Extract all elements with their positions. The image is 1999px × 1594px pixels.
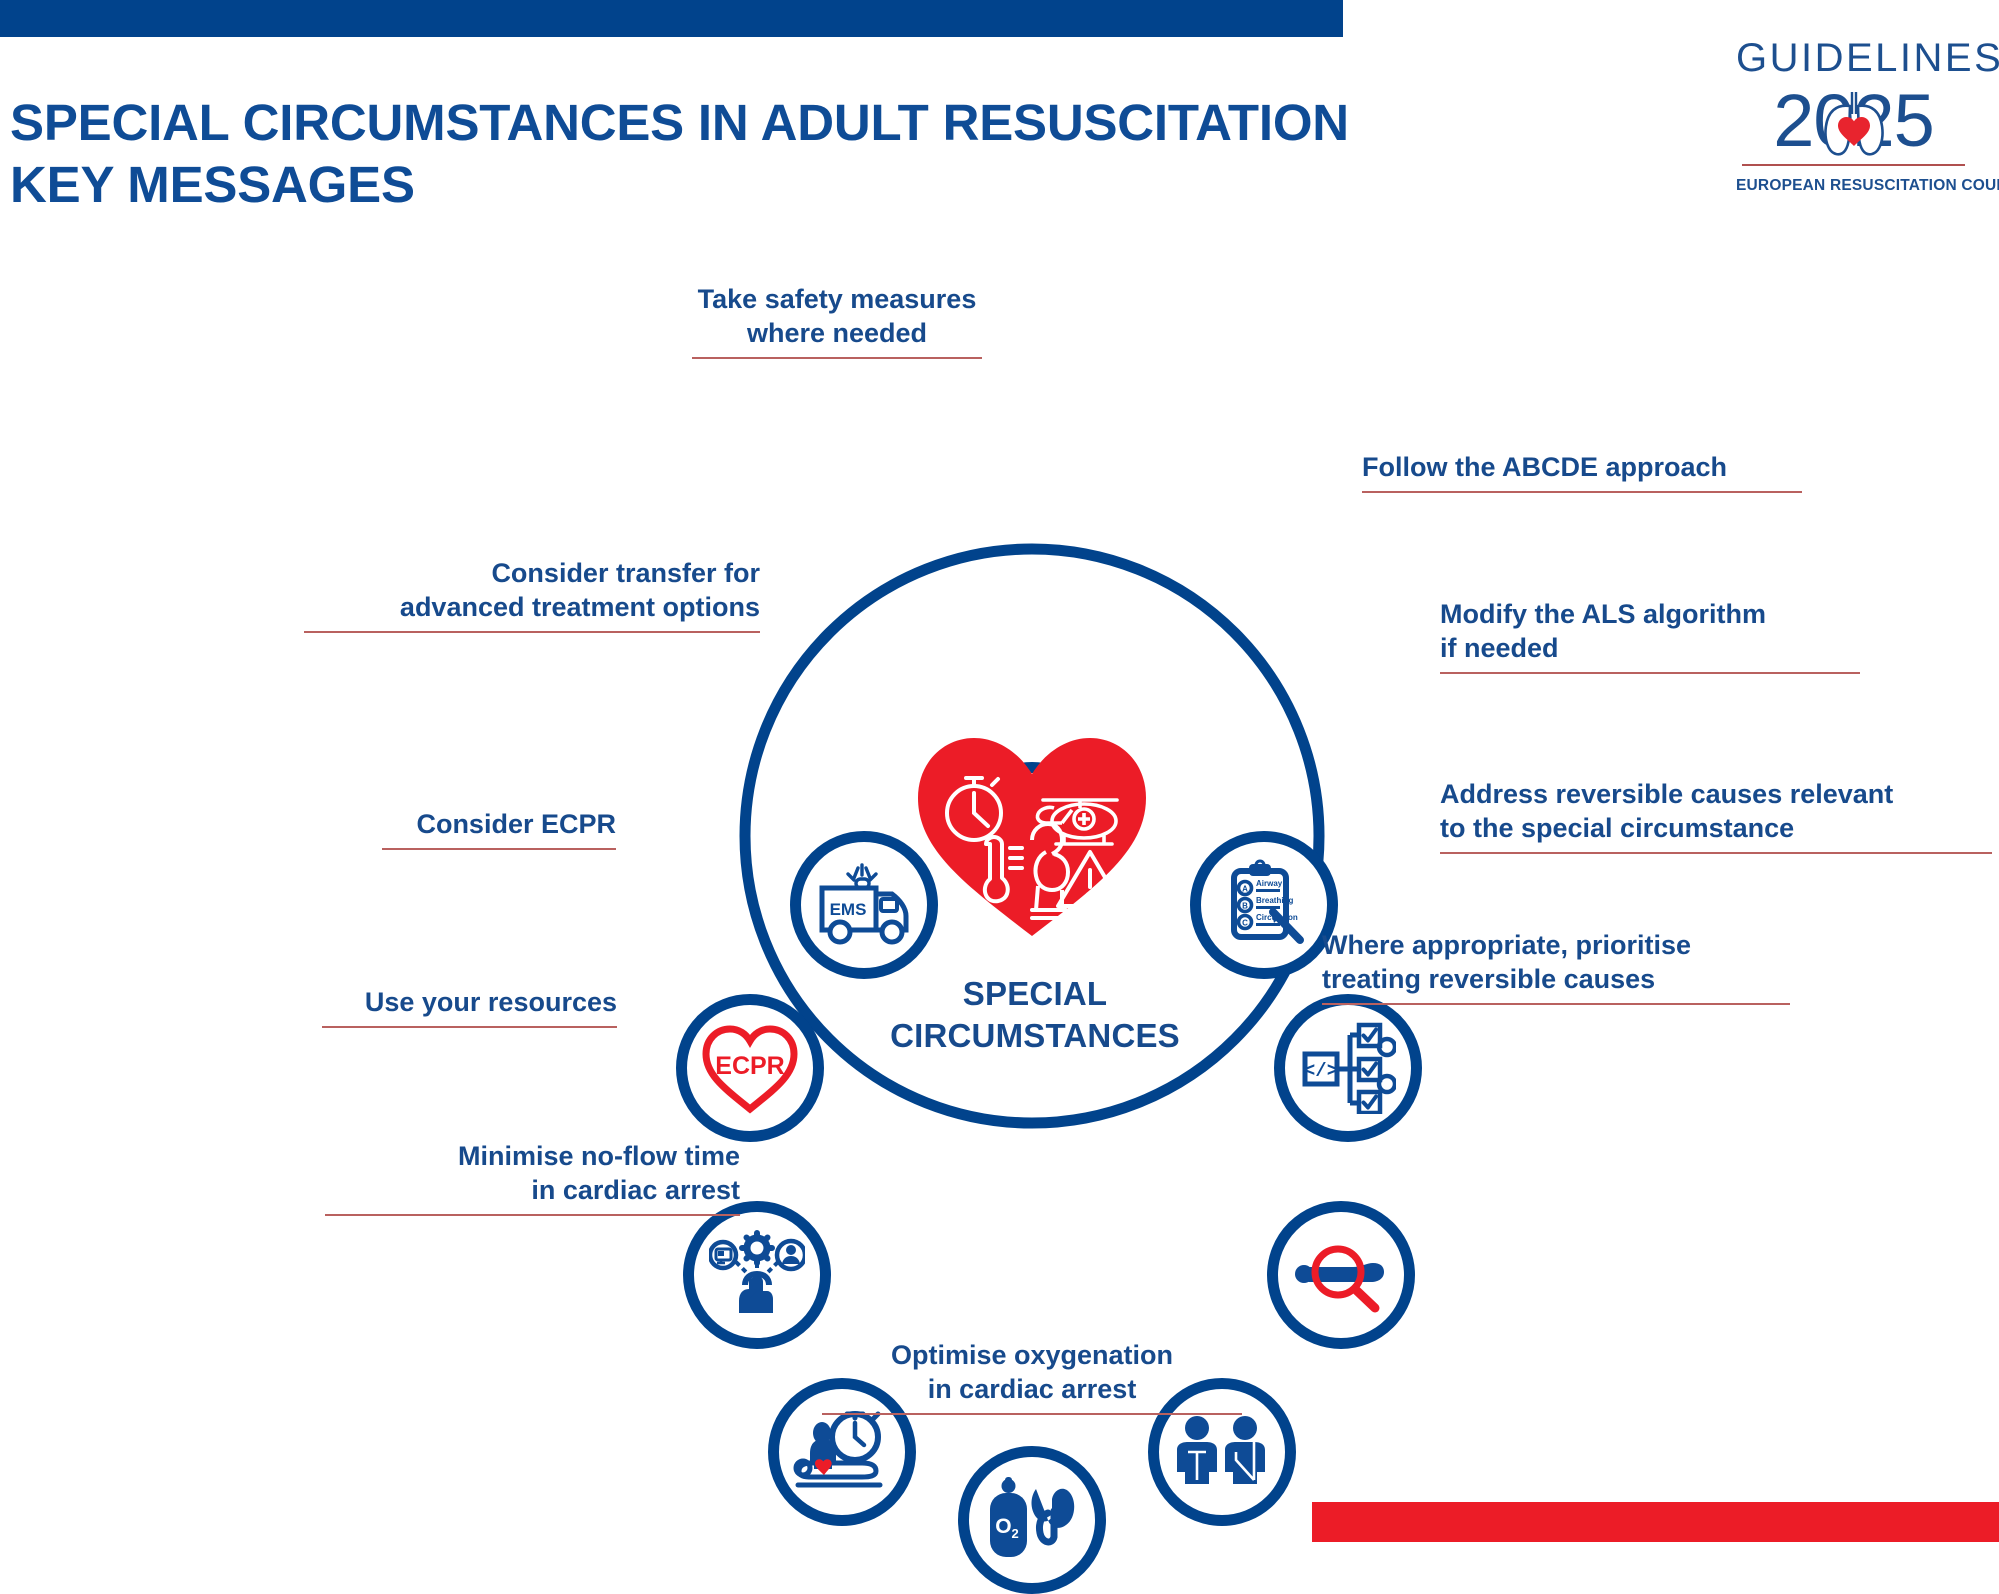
caption-als-line1: Modify the ALS algorithm [1440, 597, 1860, 631]
caption-reversible-line2: to the special circumstance [1440, 811, 1992, 845]
caption-oxygenation-line1: Optimise oxygenation [822, 1338, 1242, 1372]
caption-safety: Take safety measures where needed [692, 282, 982, 359]
caption-prioritise-line2: treating reversible causes [1322, 962, 1790, 996]
caption-abcde-line1: Follow the ABCDE approach [1362, 450, 1802, 484]
svg-text:A: A [1242, 885, 1248, 894]
svg-text:Breathing: Breathing [1256, 896, 1293, 905]
caption-noflow-line1: Minimise no-flow time [325, 1139, 740, 1173]
cpr-stopwatch-icon [792, 1409, 892, 1495]
top-accent-bar [0, 0, 1343, 37]
node-oxygenation[interactable]: O2 [958, 1446, 1106, 1594]
center-label-line1: SPECIAL [850, 973, 1220, 1015]
circle-diagram: A Airway B Breathing C Circulation </> [0, 250, 1999, 1480]
caption-ecpr-underline [382, 848, 616, 850]
caption-resources: Use your resources [322, 985, 617, 1028]
center-label: SPECIAL CIRCUMSTANCES [850, 973, 1220, 1057]
caption-safety-line2: where needed [692, 316, 982, 350]
caption-noflow-underline [325, 1214, 740, 1216]
caption-no-flow-time: Minimise no-flow time in cardiac arrest [325, 1139, 740, 1216]
bottom-accent-bar [1312, 1502, 1999, 1542]
caption-resources-underline [322, 1026, 617, 1028]
caption-reversible-underline [1440, 852, 1992, 854]
caption-oxygenation-line2: in cardiac arrest [822, 1372, 1242, 1406]
center-label-line2: CIRCUMSTANCES [850, 1015, 1220, 1057]
svg-text:C: C [1242, 919, 1248, 928]
ecpr-heart-icon: ECPR [698, 1021, 802, 1115]
clipboard-abcde-icon: A Airway B Breathing C Circulation [1216, 857, 1312, 953]
lungs-heart-icon [1808, 84, 1900, 165]
caption-transfer: Consider transfer for advanced treatment… [304, 556, 760, 633]
node-als-algorithm[interactable]: </> [1274, 994, 1422, 1142]
node-resources[interactable] [683, 1201, 831, 1349]
caption-prioritise-line1: Where appropriate, prioritise [1322, 928, 1790, 962]
logo-council-text: EUROPEAN RESUSCITATION COUNCIL© [1736, 172, 1971, 195]
oxygen-cylinder-icon: O2 [984, 1475, 1080, 1565]
logo-council-label: EUROPEAN RESUSCITATION COUNCIL [1736, 177, 1999, 194]
patient-magnifier-icon [1291, 1236, 1391, 1314]
caption-transfer-underline [304, 631, 760, 633]
logo-guidelines-text: GUIDELINES [1736, 38, 1971, 78]
page-title-line1: SPECIAL CIRCUMSTANCES IN ADULT RESUSCITA… [10, 92, 1310, 154]
erc-logo: GUIDELINES 2025 EUROPEAN RESUSCITATION C… [1736, 38, 1971, 195]
logo-year-block: 2025 [1736, 82, 1971, 160]
svg-text:ECPR: ECPR [715, 1052, 784, 1080]
svg-text:Airway: Airway [1256, 879, 1283, 888]
center-heart-icon [912, 730, 1152, 942]
node-reversible-causes[interactable] [1267, 1201, 1415, 1349]
caption-prioritise-underline [1322, 1003, 1790, 1005]
caption-oxygenation: Optimise oxygenation in cardiac arrest [822, 1338, 1242, 1415]
node-abcde[interactable]: A Airway B Breathing C Circulation [1190, 831, 1338, 979]
svg-text:EMS: EMS [830, 900, 867, 919]
ems-ambulance-icon: EMS [814, 862, 914, 948]
svg-text:</>: </> [1304, 1060, 1338, 1082]
page-title-line2: KEY MESSAGES [10, 154, 1310, 216]
caption-resources-line1: Use your resources [322, 985, 617, 1019]
algorithm-flowchart-icon: </> [1300, 1022, 1396, 1114]
resources-network-icon [709, 1229, 805, 1321]
caption-oxygenation-underline [822, 1413, 1242, 1415]
svg-text:B: B [1242, 902, 1248, 911]
page-title: SPECIAL CIRCUMSTANCES IN ADULT RESUSCITA… [10, 92, 1310, 216]
caption-ecpr-line1: Consider ECPR [382, 807, 616, 841]
caption-abcde-underline [1362, 491, 1802, 493]
caption-abcde: Follow the ABCDE approach [1362, 450, 1802, 493]
node-ecpr[interactable]: ECPR [676, 994, 824, 1142]
caption-als-underline [1440, 672, 1860, 674]
caption-transfer-line2: advanced treatment options [304, 590, 760, 624]
caption-transfer-line1: Consider transfer for [304, 556, 760, 590]
caption-prioritise: Where appropriate, prioritise treating r… [1322, 928, 1790, 1005]
two-people-icon [1174, 1414, 1270, 1490]
caption-reversible-line1: Address reversible causes relevant [1440, 777, 1992, 811]
caption-safety-underline [692, 357, 982, 359]
caption-ecpr: Consider ECPR [382, 807, 616, 850]
caption-reversible-causes: Address reversible causes relevant to th… [1440, 777, 1992, 854]
caption-safety-line1: Take safety measures [692, 282, 982, 316]
caption-noflow-line2: in cardiac arrest [325, 1173, 740, 1207]
caption-als-algorithm: Modify the ALS algorithm if needed [1440, 597, 1860, 674]
caption-als-line2: if needed [1440, 631, 1860, 665]
